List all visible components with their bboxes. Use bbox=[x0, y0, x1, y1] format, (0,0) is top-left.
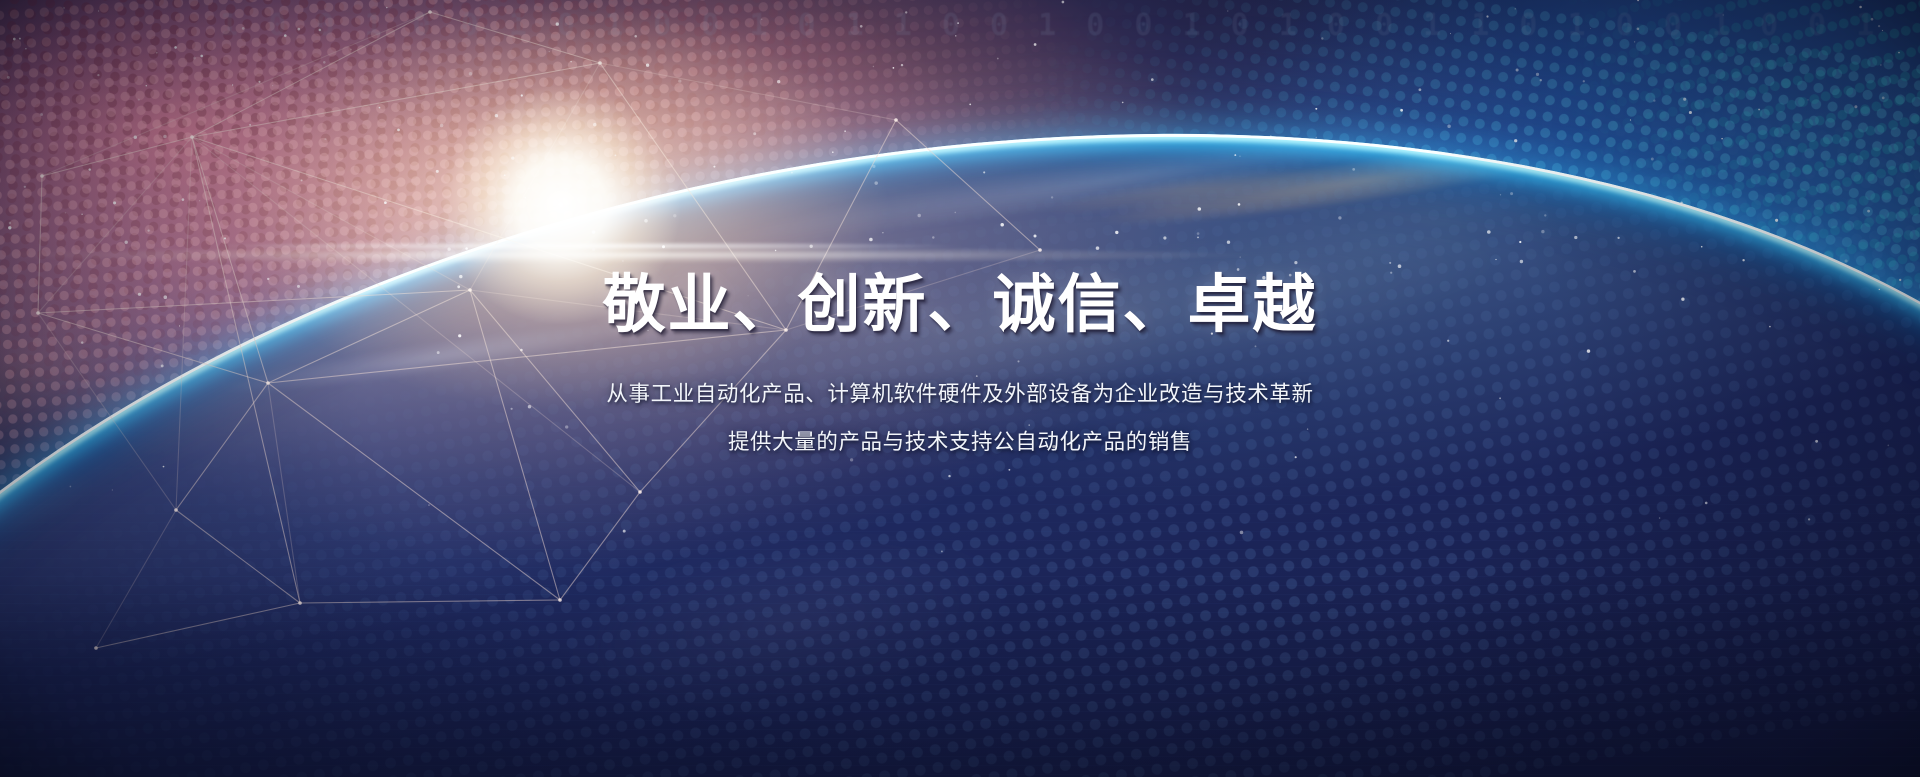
banner-content: 敬业、创新、诚信、卓越 从事工业自动化产品、计算机软件硬件及外部设备为企业改造与… bbox=[0, 0, 1920, 777]
banner-subtitle-line-2: 提供大量的产品与技术支持公自动化产品的销售 bbox=[728, 426, 1192, 458]
banner-subtitle-line-1: 从事工业自动化产品、计算机软件硬件及外部设备为企业改造与技术革新 bbox=[606, 378, 1313, 410]
hero-banner: 1 0 0 1 0 0 1 0 1 0 0 1 0 1 1 0 0 1 0 0 … bbox=[0, 0, 1920, 777]
banner-subtitle-group: 从事工业自动化产品、计算机软件硬件及外部设备为企业改造与技术革新 提供大量的产品… bbox=[606, 378, 1313, 458]
banner-headline: 敬业、创新、诚信、卓越 bbox=[603, 268, 1318, 342]
